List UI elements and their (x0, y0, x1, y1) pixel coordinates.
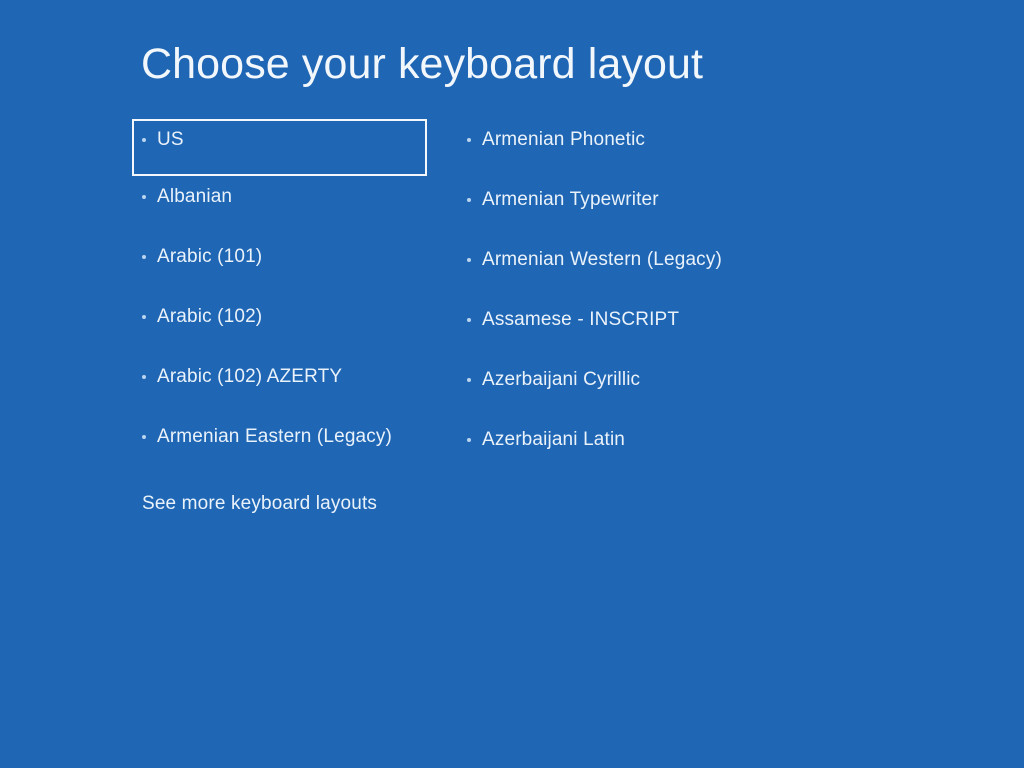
keyboard-layout-item-right-1[interactable]: Armenian Typewriter (457, 179, 877, 239)
see-more-keyboard-layouts-link[interactable]: See more keyboard layouts (142, 492, 377, 516)
bullet-dot-icon (142, 375, 146, 379)
keyboard-layout-label: Azerbaijani Latin (482, 428, 625, 452)
bullet-dot-icon (467, 378, 471, 382)
keyboard-layout-label: Armenian Phonetic (482, 128, 645, 152)
keyboard-layout-label: Armenian Eastern (Legacy) (157, 425, 392, 449)
keyboard-layout-label: Armenian Western (Legacy) (482, 248, 722, 272)
keyboard-layout-label: Albanian (157, 185, 232, 209)
bullet-dot-icon (467, 198, 471, 202)
keyboard-layout-item-right-0[interactable]: Armenian Phonetic (457, 119, 877, 179)
bullet-dot-icon (467, 318, 471, 322)
keyboard-layout-label: Assamese - INSCRIPT (482, 308, 679, 332)
keyboard-layout-label: Arabic (102) (157, 305, 262, 329)
bullet-dot-icon (142, 255, 146, 259)
keyboard-layout-item-right-2[interactable]: Armenian Western (Legacy) (457, 239, 877, 299)
keyboard-layout-label: Arabic (102) AZERTY (157, 365, 342, 389)
keyboard-layout-label: US (157, 128, 184, 152)
bullet-dot-icon (467, 138, 471, 142)
bullet-dot-icon (467, 438, 471, 442)
bullet-dot-icon (467, 258, 471, 262)
keyboard-layout-item-right-4[interactable]: Azerbaijani Cyrillic (457, 359, 877, 419)
keyboard-layout-list: USAlbanianArabic (101)Arabic (102)Arabic… (0, 0, 1024, 768)
recovery-screen: Choose your keyboard layout USAlbanianAr… (0, 0, 1024, 768)
bullet-dot-icon (142, 138, 146, 142)
keyboard-layout-item-left-0[interactable]: US (132, 119, 427, 176)
keyboard-layout-column-right: Armenian PhoneticArmenian TypewriterArme… (457, 119, 877, 479)
keyboard-layout-item-right-5[interactable]: Azerbaijani Latin (457, 419, 877, 479)
bullet-dot-icon (142, 315, 146, 319)
keyboard-layout-label: Arabic (101) (157, 245, 262, 269)
bullet-dot-icon (142, 195, 146, 199)
keyboard-layout-item-right-3[interactable]: Assamese - INSCRIPT (457, 299, 877, 359)
keyboard-layout-label: Armenian Typewriter (482, 188, 659, 212)
bullet-dot-icon (142, 435, 146, 439)
keyboard-layout-label: Azerbaijani Cyrillic (482, 368, 640, 392)
